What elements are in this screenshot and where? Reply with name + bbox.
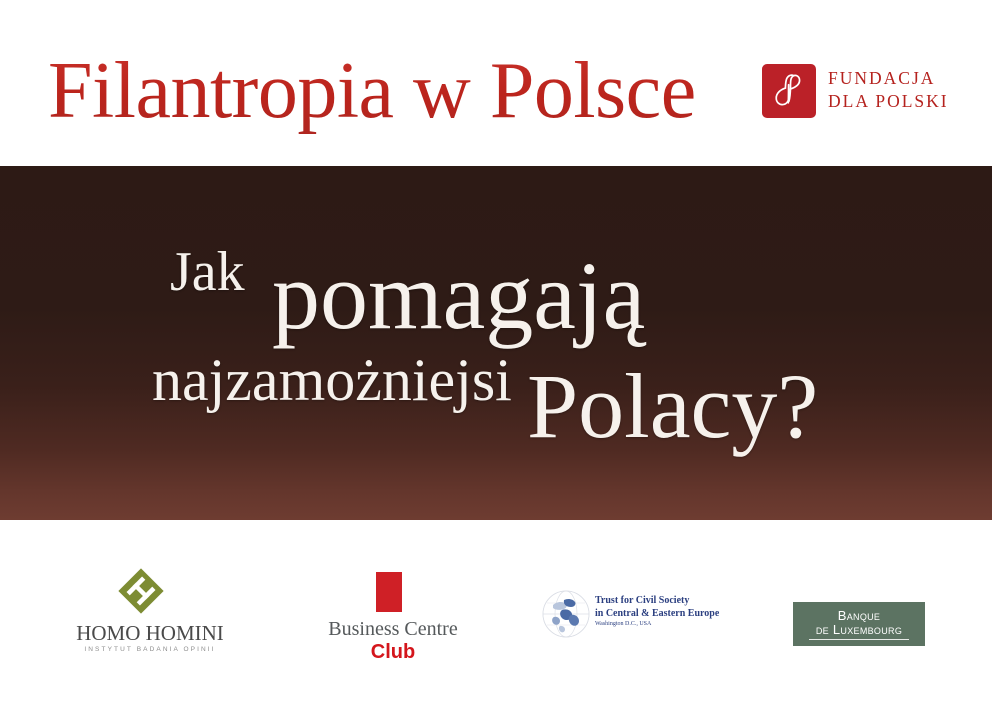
trust-wordmark: Trust for Civil Society in Central & Eas… xyxy=(595,595,720,629)
homo-homini-diamond-icon xyxy=(118,568,164,614)
page-title: Filantropia w Polsce xyxy=(48,48,696,134)
sponsor-footer: HOMO HOMINI INSTYTUT BADANIA OPINII Busi… xyxy=(0,520,992,702)
fundacja-dla-polski-logo: FUNDACJA DLA POLSKI xyxy=(762,62,938,124)
trust-location: Washington D.C., USA xyxy=(595,620,720,629)
headline-word-polacy: Polacy? xyxy=(527,360,818,452)
homo-homini-name: HOMO HOMINI xyxy=(70,622,230,644)
headline-word-pomagaja: pomagają xyxy=(272,248,645,344)
banque-line-1: Banque xyxy=(793,609,925,623)
homo-homini-subtitle: INSTYTUT BADANIA OPINII xyxy=(70,645,230,654)
trust-line-2: in Central & Eastern Europe xyxy=(595,608,720,621)
fundacja-dla-polski-wordmark: FUNDACJA DLA POLSKI xyxy=(828,67,940,113)
business-centre-club-name: Business Centre xyxy=(318,618,468,641)
globe-icon xyxy=(540,588,592,640)
cover-header: Filantropia w Polsce FUNDACJA DLA POLSKI xyxy=(0,0,992,166)
fundacja-dla-polski-mark-icon xyxy=(762,64,816,118)
business-centre-club-accent-word: Club xyxy=(318,641,468,664)
sponsor-logo-trust-for-civil-society: Trust for Civil Society in Central & Eas… xyxy=(540,588,720,644)
fundacja-line-1: FUNDACJA xyxy=(828,67,940,90)
headline-word-najzamozniejsi: najzamożniejsi xyxy=(152,350,512,410)
business-centre-club-block-icon xyxy=(376,572,402,612)
banque-line-2: de Luxembourg xyxy=(793,623,925,637)
headline-band: Jak pomagają najzamożniejsi Polacy? xyxy=(0,166,992,520)
trust-line-1: Trust for Civil Society xyxy=(595,595,720,608)
fundacja-line-2: DLA POLSKI xyxy=(828,90,940,113)
banque-de-luxembourg-box: Banque de Luxembourg xyxy=(793,602,925,646)
sponsor-logo-banque-de-luxembourg: Banque de Luxembourg xyxy=(793,602,925,646)
headline-word-jak: Jak xyxy=(170,244,245,300)
banque-underline xyxy=(809,639,909,640)
